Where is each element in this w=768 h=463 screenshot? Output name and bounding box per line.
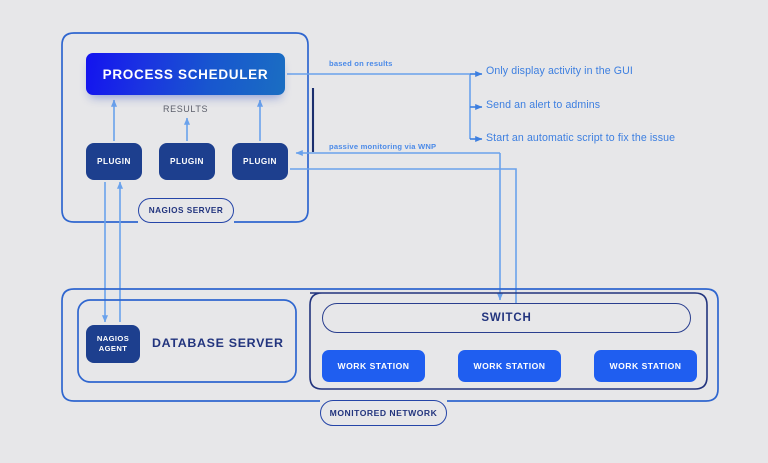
outcome-text-2: Send an alert to admins — [486, 99, 600, 111]
outcome-text-1: Only display activity in the GUI — [486, 65, 633, 77]
edge-label-results: RESULTS — [163, 104, 208, 114]
work-station-node-1[interactable]: WORK STATION — [322, 350, 425, 382]
work-station-node-3[interactable]: WORK STATION — [594, 350, 697, 382]
nagios-agent-label-line1: NAGIOS — [97, 334, 129, 344]
nagios-agent-node[interactable]: NAGIOS AGENT — [86, 325, 140, 363]
nagios-agent-label-line2: AGENT — [97, 344, 129, 354]
database-server-label: DATABASE SERVER — [152, 336, 284, 350]
plugin-node-3[interactable]: PLUGIN — [232, 143, 288, 180]
process-scheduler-node[interactable]: PROCESS SCHEDULER — [86, 53, 285, 95]
outcome-text-3: Start an automatic script to fix the iss… — [486, 132, 675, 144]
work-station-node-2[interactable]: WORK STATION — [458, 350, 561, 382]
edge-plugin3-to-switch — [290, 169, 516, 312]
monitored-network-pill: MONITORED NETWORK — [320, 400, 447, 426]
nagios-server-pill: NAGIOS SERVER — [138, 198, 234, 223]
diagram-canvas: PROCESS SCHEDULER PLUGIN PLUGIN PLUGIN N… — [0, 0, 768, 463]
edge-label-based-on-results: based on results — [329, 59, 393, 68]
plugin-node-2[interactable]: PLUGIN — [159, 143, 215, 180]
edge-label-passive-monitoring: passive monitoring via WNP — [329, 142, 436, 151]
switch-node[interactable]: SWITCH — [322, 303, 691, 333]
plugin-node-1[interactable]: PLUGIN — [86, 143, 142, 180]
